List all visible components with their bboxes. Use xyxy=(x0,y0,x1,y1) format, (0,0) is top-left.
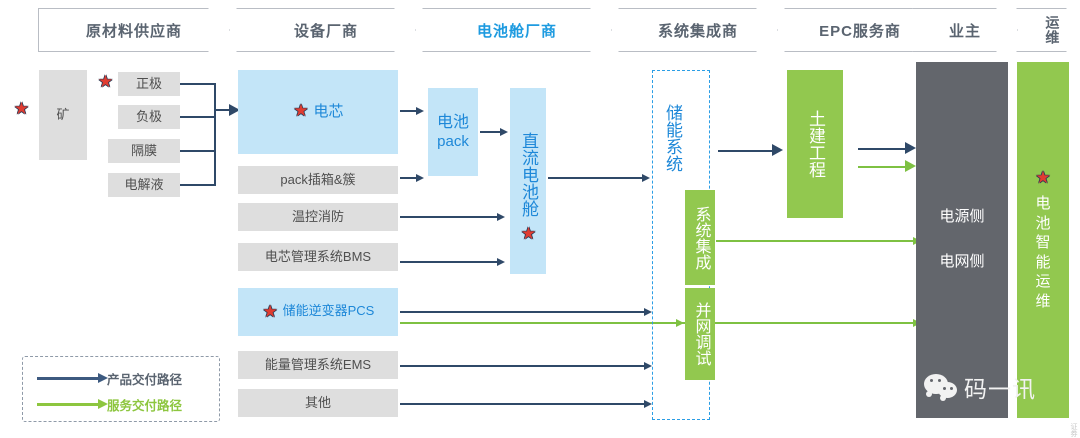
owner-side-grid-label: 电网侧 xyxy=(939,253,984,272)
connector-raw-material-bus xyxy=(214,83,216,186)
storage-system-group-label: 储能系统 xyxy=(660,82,684,194)
wechat-dot-3 xyxy=(943,387,946,390)
connector-ems-to-storage xyxy=(400,365,646,367)
equipment-item-ems[interactable]: 能量管理系统EMS xyxy=(238,351,398,379)
battery-pack-label-line1: 电池 xyxy=(437,113,469,133)
equipment-item-label: pack插箱&簇 xyxy=(280,172,355,188)
wechat-dot-1 xyxy=(930,379,933,382)
equipment-item-content: ★电芯 xyxy=(292,103,343,122)
om-label: 电池智能运维 xyxy=(1035,194,1050,311)
battery-pack-label-line2: pack xyxy=(437,133,469,152)
stage-label: 业主 xyxy=(949,20,981,41)
stage-chevron-equipment-manufacturer[interactable]: 设备厂商 xyxy=(236,8,416,52)
integration-block-grid-commissioning[interactable]: 并网调试 xyxy=(685,288,715,380)
connector-civil-to-owner-product xyxy=(858,148,908,150)
integration-block-system-integration[interactable]: 系统集成 xyxy=(685,190,715,285)
wechat-watermark: 码一讯 xyxy=(924,370,1036,404)
arrowhead-dccabin-to-storage xyxy=(642,174,650,182)
stage-chevron-operation-maintenance[interactable]: 运维 xyxy=(1016,8,1080,52)
epc-civil-works-box[interactable]: 土建工程 xyxy=(787,70,843,218)
legend-panel: 产品交付路径 服务交付路径 xyxy=(22,356,220,422)
equipment-item-other[interactable]: 其他 xyxy=(238,389,398,417)
star-icon-cell: ★ xyxy=(292,102,309,119)
owner-box[interactable]: 电源侧 电网侧 xyxy=(916,62,1008,418)
arrowhead-bms-to-dccabin xyxy=(497,258,505,266)
dc-battery-cabin-label: 直流电池舱 xyxy=(518,132,538,217)
stage-label: 系统集成商 xyxy=(658,20,738,41)
legend-line-product xyxy=(37,377,99,380)
legend-item-product-path: 产品交付路径 xyxy=(37,369,182,388)
arrowhead-thermal-to-dccabin xyxy=(497,213,505,221)
equipment-item-thermal-fire[interactable]: 温控消防 xyxy=(238,203,398,231)
equipment-item-pack-box-cluster[interactable]: pack插箱&簇 xyxy=(238,166,398,194)
raw-material-item-label: 隔膜 xyxy=(131,143,157,159)
dc-battery-cabin-box[interactable]: 直流电池舱 xyxy=(510,88,546,274)
storage-system-label-text: 储能系统 xyxy=(662,104,682,172)
corner-watermark: 证券 xyxy=(1068,423,1078,437)
equipment-item-pcs[interactable]: ★储能逆变器PCS xyxy=(238,288,398,336)
equipment-item-label: 储能逆变器PCS xyxy=(283,303,375,318)
owner-side-power-label: 电源侧 xyxy=(939,208,984,227)
arrowhead-packbox-to-pack xyxy=(416,174,424,182)
equipment-item-label: 电芯管理系统BMS xyxy=(265,249,371,265)
wechat-account-name: 码一讯 xyxy=(964,370,1036,404)
wechat-dot-2 xyxy=(938,379,941,382)
raw-material-mine-box[interactable]: 矿 xyxy=(39,70,87,160)
connector-pack-to-dccabin xyxy=(480,131,502,133)
raw-material-item-anode[interactable]: 负极 xyxy=(118,105,180,129)
legend-line-service xyxy=(37,403,99,406)
stage-chevron-raw-material-supplier[interactable]: 原材料供应商 xyxy=(38,8,230,52)
star-icon-pcs: ★ xyxy=(262,303,279,320)
connector-civil-to-owner-service xyxy=(858,166,908,168)
equipment-item-cell[interactable]: ★电芯 xyxy=(238,70,398,154)
connector-anode xyxy=(180,116,216,118)
arrowhead-service-into-grid-commissioning xyxy=(676,319,684,327)
stage-label: 电池舱厂商 xyxy=(477,20,557,41)
wechat-bubble-small-tail xyxy=(940,395,946,401)
integration-block-label: 并网调试 xyxy=(691,302,710,366)
equipment-item-label: 温控消防 xyxy=(292,209,344,225)
raw-material-item-label: 正极 xyxy=(136,76,162,92)
raw-material-item-electrolyte[interactable]: 电解液 xyxy=(108,173,180,197)
raw-material-item-label: 负极 xyxy=(136,109,162,125)
raw-material-item-separator[interactable]: 隔膜 xyxy=(108,139,180,163)
connector-dccabin-to-storage xyxy=(548,177,644,179)
connector-pcs-to-storage xyxy=(400,311,646,313)
wechat-icon xyxy=(924,374,960,400)
legend-label-product: 产品交付路径 xyxy=(107,369,182,388)
stage-chevron-battery-cabin-manufacturer[interactable]: 电池舱厂商 xyxy=(422,8,612,52)
connector-other-to-storage xyxy=(400,403,646,405)
raw-material-mine-label: 矿 xyxy=(56,107,69,123)
stage-label: 原材料供应商 xyxy=(86,20,182,41)
connector-electrolyte xyxy=(180,184,216,186)
star-icon-mine: ★ xyxy=(13,100,30,117)
stage-chevron-system-integrator[interactable]: 系统集成商 xyxy=(618,8,778,52)
arrowhead-cell-to-pack xyxy=(416,107,424,115)
om-box[interactable]: ★ 电池智能运维 xyxy=(1017,62,1069,418)
stage-label: 设备厂商 xyxy=(294,20,358,41)
equipment-item-bms[interactable]: 电芯管理系统BMS xyxy=(238,243,398,271)
connector-cathode xyxy=(180,83,216,85)
arrowhead-pack-to-dccabin xyxy=(500,128,508,136)
stage-chevron-owner[interactable]: 业主 xyxy=(912,8,1018,52)
equipment-item-label: 电芯 xyxy=(313,103,343,120)
connector-bms-to-dccabin xyxy=(400,261,498,263)
arrowhead-civil-to-owner-product xyxy=(905,142,916,154)
legend-item-service-path: 服务交付路径 xyxy=(37,395,182,414)
connector-thermal-to-dccabin xyxy=(400,216,498,218)
equipment-item-label: 其他 xyxy=(305,395,331,411)
arrowhead-civil-to-owner-service xyxy=(905,160,916,172)
wechat-bubble-large-tail xyxy=(926,391,932,397)
epc-civil-works-label: 土建工程 xyxy=(805,110,825,178)
equipment-item-label: 能量管理系统EMS xyxy=(265,357,371,373)
integration-block-label: 系统集成 xyxy=(691,206,710,270)
star-icon-om: ★ xyxy=(1035,169,1052,186)
connector-separator xyxy=(180,150,216,152)
battery-pack-box[interactable]: 电池 pack xyxy=(428,88,478,176)
raw-material-item-label: 电解液 xyxy=(124,177,163,193)
star-icon-cathode: ★ xyxy=(97,73,114,90)
connector-storage-to-civil xyxy=(718,150,776,152)
stage-label: 运维 xyxy=(1045,15,1060,45)
star-icon-dc-battery-cabin: ★ xyxy=(520,225,537,242)
raw-material-item-cathode[interactable]: 正极 xyxy=(118,72,180,96)
diagram-canvas: 原材料供应商 设备厂商 电池舱厂商 系统集成商 EPC服务商 业主 运维 ★ 矿… xyxy=(0,0,1080,438)
connector-integration-to-owner xyxy=(716,240,915,242)
arrowhead-pcs-to-storage xyxy=(644,308,652,316)
arrowhead-storage-to-civil xyxy=(772,144,783,156)
equipment-item-content: ★储能逆变器PCS xyxy=(262,303,375,320)
arrowhead-ems-to-storage xyxy=(644,362,652,370)
arrowhead-other-to-storage xyxy=(644,400,652,408)
stage-label: EPC服务商 xyxy=(819,20,901,41)
legend-label-service: 服务交付路径 xyxy=(107,395,182,414)
wechat-dot-4 xyxy=(950,387,953,390)
